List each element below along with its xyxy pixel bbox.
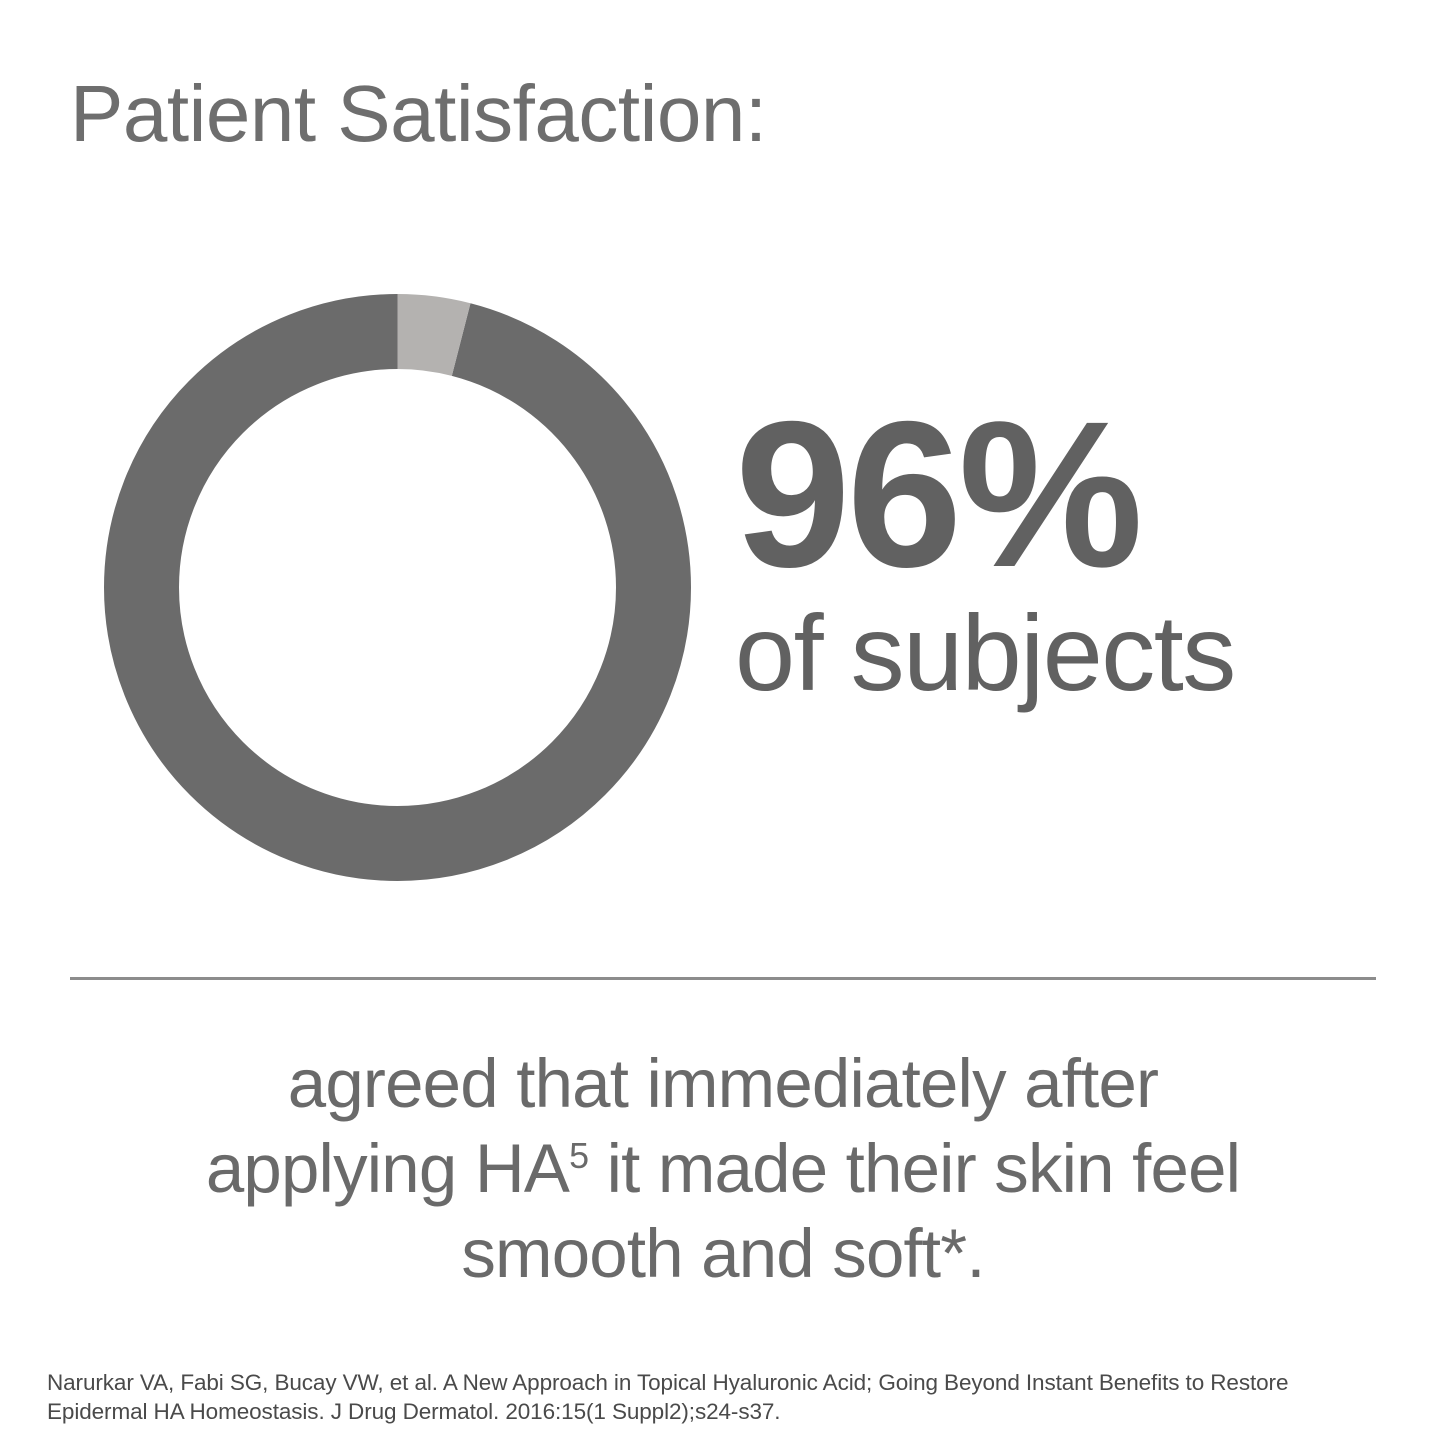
citation-block: Narurkar VA, Fabi SG, Bucay VW, et al. A… xyxy=(47,1369,1407,1427)
footnote-marker-5: 5 xyxy=(569,1136,588,1176)
page-title: Patient Satisfaction: xyxy=(70,70,767,158)
citation-line-2: Epidermal HA Homeostasis. J Drug Dermato… xyxy=(47,1398,1407,1427)
donut-segment-agreed xyxy=(142,332,654,844)
statistic-figures: 96% of subjects xyxy=(735,400,1355,707)
donut-chart xyxy=(104,294,691,881)
horizontal-divider xyxy=(70,977,1376,980)
stat-percent-value: 96% xyxy=(735,400,1355,591)
statistic-block: 96% of subjects xyxy=(0,280,1445,900)
citation-line-1: Narurkar VA, Fabi SG, Bucay VW, et al. A… xyxy=(47,1369,1407,1398)
infographic-page: Patient Satisfaction: 96% of subjects ag… xyxy=(0,0,1445,1445)
statement-line-2-post: it made their skin feel xyxy=(588,1130,1240,1207)
statement-line-1: agreed that immediately after xyxy=(70,1042,1376,1127)
statement-text: agreed that immediately after applying H… xyxy=(70,1042,1376,1297)
stat-caption: of subjects xyxy=(735,599,1355,707)
statement-line-3: smooth and soft*. xyxy=(70,1212,1376,1297)
statement-line-2-pre: applying HA xyxy=(206,1130,569,1207)
statement-line-2: applying HA5 it made their skin feel xyxy=(70,1127,1376,1212)
